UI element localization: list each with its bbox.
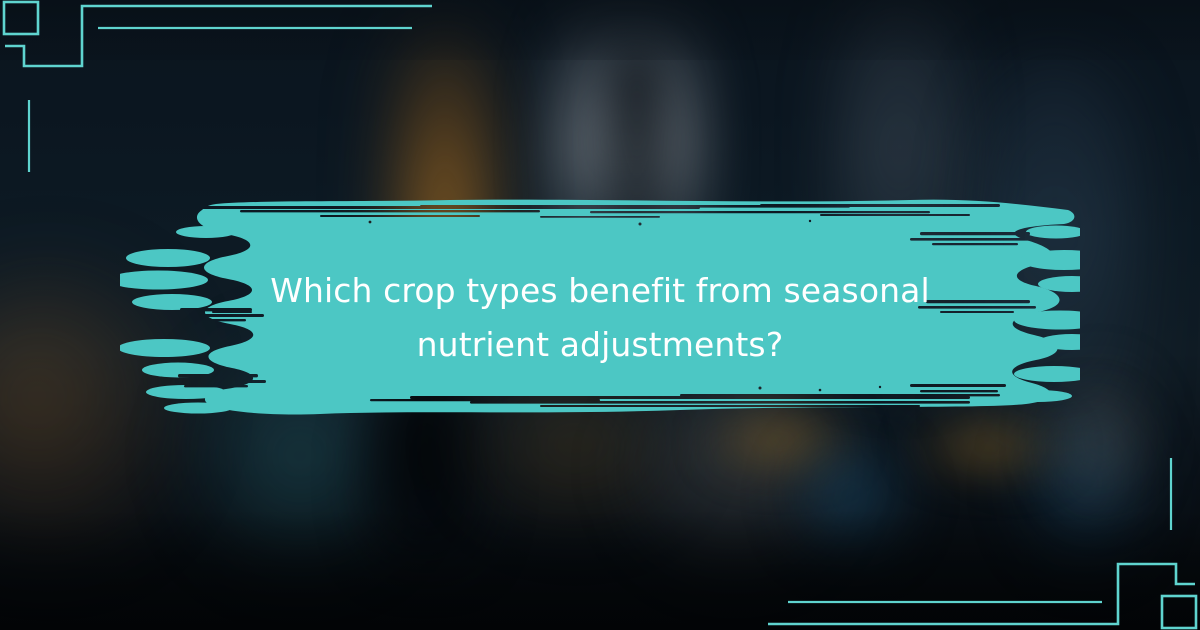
question-text-block: Which crop types benefit from seasonal n…	[120, 188, 1080, 448]
corner-bracket-bottom-right	[730, 455, 1200, 630]
corner-bracket-top-left	[0, 0, 470, 175]
question-card-canvas: Which crop types benefit from seasonal n…	[0, 0, 1200, 630]
brush-stroke-banner: Which crop types benefit from seasonal n…	[120, 188, 1080, 448]
question-line-2: nutrient adjustments?	[417, 318, 784, 372]
question-line-1: Which crop types benefit from seasonal	[270, 264, 929, 318]
